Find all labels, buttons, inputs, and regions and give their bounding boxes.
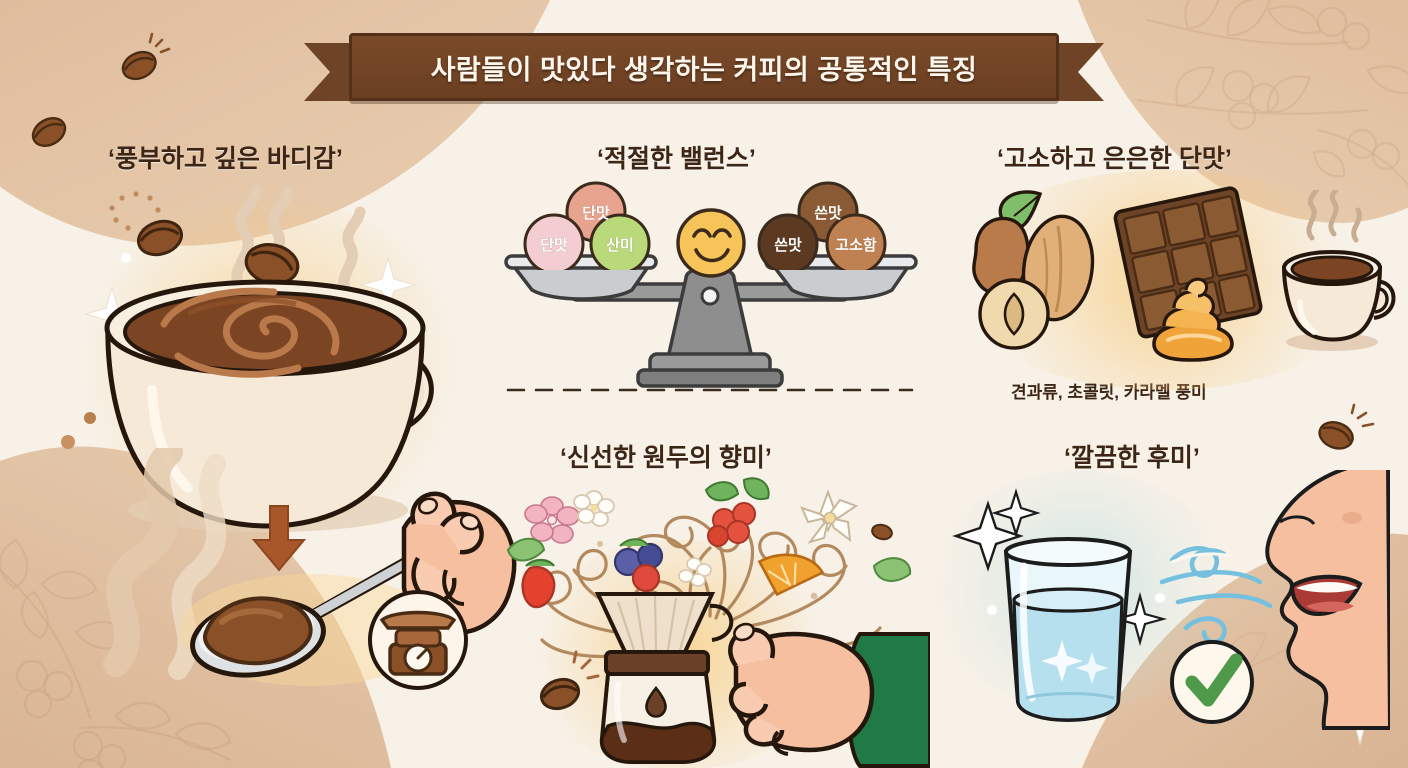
coffee-bean-decor-1 xyxy=(112,32,172,92)
panel-aroma-section xyxy=(480,470,940,765)
nuts-illustration xyxy=(970,186,1120,366)
panel-sweetness-section xyxy=(960,180,1380,390)
balance-left-chips: 단맛 단맛 산미 xyxy=(510,180,680,270)
panel-body-section xyxy=(60,180,500,680)
berries-red-icon xyxy=(708,503,755,546)
clean-finish-illustration xyxy=(940,470,1390,730)
page-title: 사람들이 맛있다 생각하는 커피의 공통적인 특징 xyxy=(431,48,978,87)
heading-sweetness-section: ‘고소하고 은은한 단맛’ xyxy=(997,139,1232,175)
smiley-face-icon xyxy=(666,198,756,288)
heading-body-section: ‘풍부하고 깊은 바디감’ xyxy=(108,139,343,175)
chip-right-top-label: 쓴맛 xyxy=(814,204,842,222)
coffee-bean-aroma-decor xyxy=(526,646,606,726)
steam-small xyxy=(1309,190,1359,240)
balance-right-chips: 쓴맛 쓴맛 고소함 xyxy=(748,180,928,270)
chocolate-caramel-illustration xyxy=(1110,184,1280,364)
water-glass-icon xyxy=(1006,539,1130,720)
green-check-badge xyxy=(1172,642,1252,722)
white-flower-icon-small xyxy=(574,491,614,526)
cherry-blossom-icon xyxy=(525,497,579,543)
leaf-icon-right xyxy=(874,558,910,581)
chip-left-bottom-2-label: 산미 xyxy=(606,237,634,254)
chip-left-bottom-1-label: 단맛 xyxy=(540,236,568,254)
chip-right-bottom-1-label: 쓴맛 xyxy=(774,236,802,254)
face-profile-icon xyxy=(1267,470,1390,728)
pour-over-illustration xyxy=(560,588,930,768)
floating-coffee-bean-1 xyxy=(134,216,186,260)
infographic-canvas: 사람들이 맛있다 생각하는 커피의 공통적인 특징 ‘풍부하고 깊은 바디감’ … xyxy=(0,0,1408,768)
heading-aroma-section: ‘신선한 원두의 향미’ xyxy=(560,438,772,474)
white-flower-icon-large xyxy=(802,492,856,542)
ribbon-body: 사람들이 맛있다 생각하는 커피의 공통적인 특징 xyxy=(349,33,1059,101)
spoon-hand-scale-illustration xyxy=(160,480,520,695)
glass-rim xyxy=(1006,539,1130,565)
coffee-cup-small-illustration xyxy=(1272,190,1402,360)
small-coffee-bean-float xyxy=(871,523,894,541)
strawberry-icon xyxy=(523,560,555,607)
coffee-bean-decor-3 xyxy=(1308,402,1378,464)
water-surface xyxy=(1014,589,1122,611)
breath-swirl-icon xyxy=(1162,548,1270,642)
hand-green-sleeve xyxy=(730,621,930,766)
panel-finish-section xyxy=(940,470,1390,730)
leaf-icon-top xyxy=(706,478,769,500)
heading-finish-section: ‘깔끔한 후미’ xyxy=(1064,438,1200,474)
leaf-icon-left xyxy=(508,539,544,561)
heading-balance-section: ‘적절한 밸런스’ xyxy=(597,139,756,175)
title-banner: 사람들이 맛있다 생각하는 커피의 공통적인 특징 xyxy=(304,33,1104,95)
coffee-bean-decor-2 xyxy=(22,108,76,156)
chip-left-top-label: 단맛 xyxy=(582,204,610,222)
kitchen-scale-badge xyxy=(370,592,466,688)
blueberries-icon xyxy=(615,539,662,591)
chip-right-bottom-2-label: 고소함 xyxy=(835,237,877,254)
dripper-collar xyxy=(606,652,708,674)
panel-balance-section: 단맛 단맛 산미 쓴맛 쓴맛 고소함 xyxy=(500,180,920,410)
dripper-handle xyxy=(710,606,731,640)
